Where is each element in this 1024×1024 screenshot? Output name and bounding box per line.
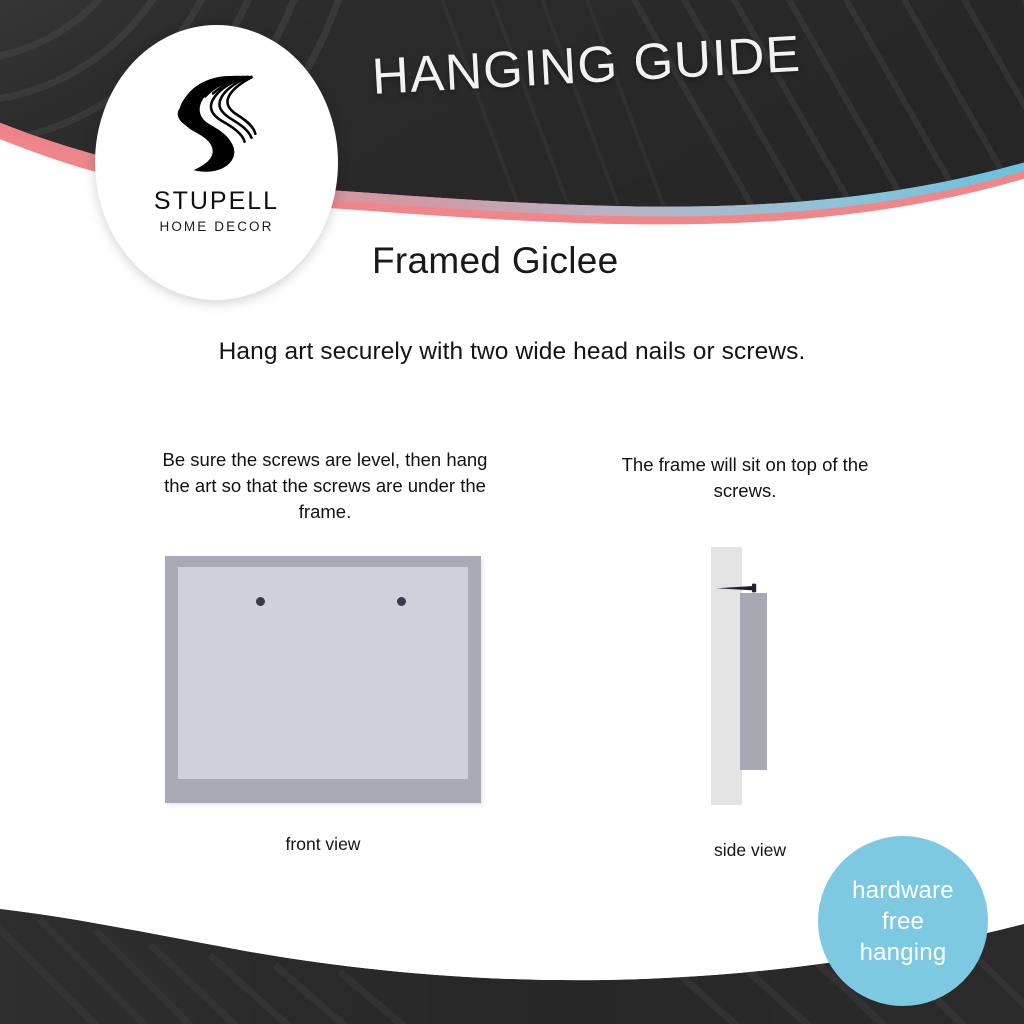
main-instruction-text: Hang art securely with two wide head nai… [0,338,1024,366]
front-view-caption: front view [165,834,481,855]
screw-nail-icon [715,583,763,593]
stupell-swoosh-icon [158,63,276,181]
product-type-label: Framed Giclee [372,240,619,282]
side-view-caption: side view [660,840,840,861]
front-view-diagram [165,556,481,803]
hardware-free-badge: hardware free hanging [818,836,988,1006]
screw-dot-left [256,597,265,606]
page-title: HANGING GUIDE [370,24,802,106]
badge-line-2: free [882,906,924,937]
brand-tagline: HOME DECOR [159,219,273,234]
screw-dot-right [397,597,406,606]
front-view-note: Be sure the screws are level, then hang … [150,447,500,525]
brand-logo-badge: STUPELL HOME DECOR [95,25,338,300]
badge-line-1: hardware [852,875,954,906]
side-view-diagram [705,547,795,809]
brand-name: STUPELL [154,187,279,216]
side-view-note: The frame will sit on top of the screws. [590,452,900,504]
badge-line-3: hanging [860,937,947,968]
hanging-guide-page: STUPELL HOME DECOR HANGING GUIDE Framed … [0,0,1024,1024]
side-view-frame [740,593,767,770]
front-view-mat [178,567,468,779]
